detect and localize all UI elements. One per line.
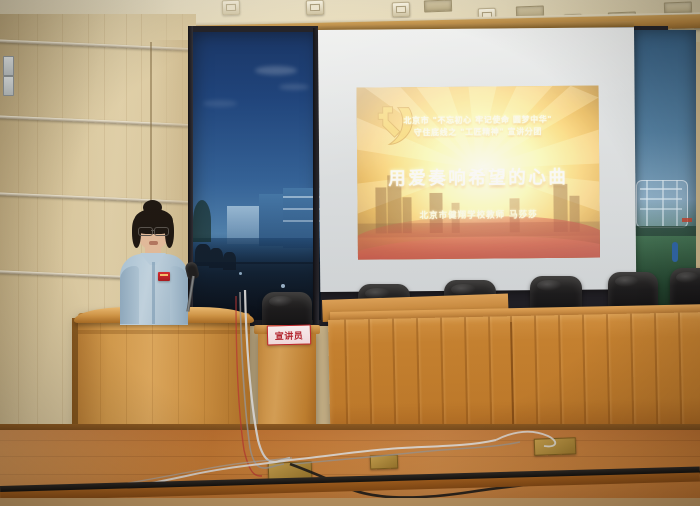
eyeglasses xyxy=(154,227,169,236)
ceiling-spotlight xyxy=(306,0,325,15)
eyeglasses xyxy=(138,227,153,236)
mouth xyxy=(149,241,158,245)
cable-bundle xyxy=(0,250,700,506)
ceiling-spotlight xyxy=(392,2,411,18)
eyeglasses-bridge xyxy=(151,230,154,231)
wall-switch[interactable] xyxy=(3,56,14,76)
hair-bangs xyxy=(137,214,170,225)
ceiling-air-vent xyxy=(424,0,452,12)
ceiling-spotlight xyxy=(222,0,241,15)
photo-scene: 北京市 "不忘初心 牢记使命 圆梦中华" 守住底线之 "工匠精神" 宣讲分团 用… xyxy=(0,0,700,506)
wall-switch[interactable] xyxy=(3,76,14,96)
floor-foreground xyxy=(0,498,700,506)
